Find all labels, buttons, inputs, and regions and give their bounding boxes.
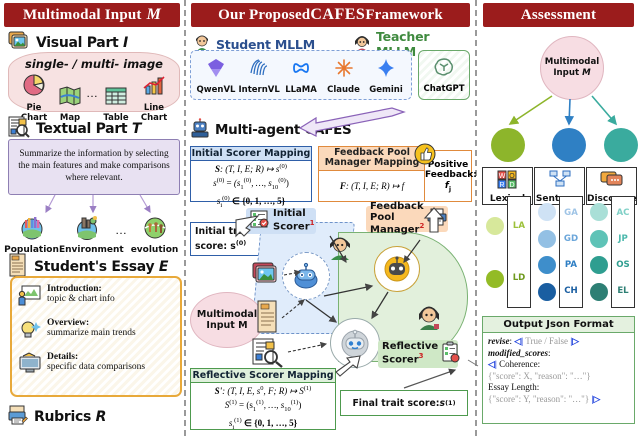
student-avatar-region-icon <box>326 232 354 264</box>
agent-tag-initial-scorer: Initial Scorer1 <box>246 208 316 234</box>
agent-name: Reflective Scorer <box>382 341 438 365</box>
prompt-text: Summarize the information by selecting t… <box>9 149 179 185</box>
textual-part-title: Textual Part T <box>36 121 141 137</box>
monitor-icon <box>17 352 43 380</box>
trait-labels-sentence: GA GD PA CH <box>559 196 583 308</box>
json-trait2-value: {"score": Y, "reason": "…"} <box>488 394 589 404</box>
trait-code: JP <box>618 234 628 244</box>
checklist-icon <box>250 209 270 233</box>
model-llama[interactable]: LLaMA <box>281 57 321 95</box>
json-trait2: Essay Length: <box>488 382 539 392</box>
formula-sup: (0) <box>279 163 287 170</box>
sentence-graph-icon <box>547 169 573 193</box>
lightbulb-icon <box>17 318 43 346</box>
fpm-mapping-header: Feedback Pool Manager Mapping <box>319 147 425 171</box>
initial-scorer-bot-icon <box>282 252 330 300</box>
trait-dot <box>538 256 556 274</box>
trait-column-discourse: AC JP OS EL <box>586 196 637 308</box>
formula-body: : (T, I, E; R) ↦ s <box>220 164 279 174</box>
presentation-icon <box>17 284 43 312</box>
amm-line1: Multimodal <box>545 57 599 68</box>
essay-item-introduction: Introduction: topic & chart info <box>17 284 175 312</box>
essay-item-text: Overview: summarize main trends <box>47 318 136 338</box>
final-trait-pre: Final trait score: <box>352 398 439 409</box>
r1m: , F; R) ↦ S <box>263 386 303 396</box>
trait-code: LD <box>513 273 526 283</box>
essay-item-detail: specific data comparisons <box>47 362 145 372</box>
reflective-scorer-mapping-box: Reflective Scorer Mapping S': (T, I, E, … <box>190 368 336 430</box>
trait-dot <box>590 283 608 301</box>
trait-column-sentence: GA GD PA CH <box>534 196 585 308</box>
trait-dot <box>538 283 556 301</box>
essay-structure-box: Introduction: topic & chart info Overvie… <box>10 276 182 397</box>
essay-item-text: Details: specific data comparisons <box>47 352 145 372</box>
fpm-formula: F: (T, I, E; R) ↦ f <box>319 180 425 192</box>
trait-dot <box>538 203 556 221</box>
r3rest: ∈ {0, 1, …, 5} <box>242 418 297 428</box>
amm-line2: Input <box>553 68 579 78</box>
claude-logo-icon <box>332 57 356 83</box>
trait-labels-lexical: LA LD <box>507 196 531 308</box>
banner-mid-post: Framework <box>365 7 443 24</box>
rubrics-title: Rubrics R <box>34 409 106 425</box>
agent-sup: 1 <box>310 219 315 227</box>
model-claude[interactable]: Claude <box>324 57 364 95</box>
trait-code: PA <box>565 260 577 270</box>
teacher-model-label: ChatGPT <box>419 84 469 94</box>
r2eq: = (s <box>237 400 253 410</box>
images-stack-icon <box>8 31 30 55</box>
json-trait1-value: {"score": X, "reason": "…"} <box>488 371 629 383</box>
banner-left-text: Multimodal Input <box>23 7 142 24</box>
open-angle: ◁| <box>514 336 523 346</box>
final-trait-score-box: Final trait score: s(1) <box>340 390 468 416</box>
gemini-logo-icon <box>374 57 398 83</box>
pf-line2: Feedback: <box>425 170 471 180</box>
trait-code: GD <box>564 234 578 244</box>
visual-subtitle: single- / multi- image <box>9 57 179 71</box>
fpm-body: : (T, I, E; R) ↦ f <box>346 181 404 191</box>
table-icon <box>104 85 128 111</box>
close-angle-2: |▷ <box>591 394 600 404</box>
f2csub: 10 <box>272 184 279 191</box>
clipboard-icon <box>441 341 461 367</box>
trait-code: AC <box>617 208 630 218</box>
r1: : (T, I, E, s <box>222 386 260 396</box>
trait-code: GA <box>564 208 578 218</box>
prompt-scroll-box: Summarize the information by selecting t… <box>8 139 180 195</box>
banner-mid-acronym: CAFES <box>310 6 365 24</box>
trait-dot <box>486 270 504 288</box>
textual-part-label: Textual Part <box>36 121 127 137</box>
evolution-icon <box>140 214 170 244</box>
f2csup: (0) <box>278 177 286 184</box>
svg-text:D: D <box>509 182 514 189</box>
internvl-logo-icon <box>247 57 271 83</box>
topics-ellipsis: … <box>115 223 127 247</box>
pie-chart-icon <box>21 73 47 101</box>
student-essay-symbol: E <box>159 259 168 275</box>
trait-code: CH <box>564 286 578 296</box>
panel-title-assessment: Assessment <box>483 3 634 27</box>
r2bsup: (1) <box>256 399 264 406</box>
multimodal-input-node-text: Multimodal Input M <box>197 309 257 332</box>
banner-mid-pre: Our Proposed <box>218 7 310 24</box>
pf-sub: j <box>449 184 451 192</box>
teacher-avatar-region-icon <box>414 300 444 334</box>
multiagent-heading: Multi-agent CAFES <box>190 118 351 142</box>
rubrics-icon <box>8 404 28 430</box>
f2close: ) <box>286 178 289 188</box>
textual-part-symbol: T <box>132 121 141 137</box>
feedback-pool-manager-bot-icon <box>374 246 420 292</box>
visual-part-box: single- / multi- image Pie Chart <box>8 52 180 112</box>
visual-part-symbol: I <box>123 35 128 51</box>
trait-grid: LA LD GA GD PA CH AC JP OS EL <box>482 196 637 308</box>
reflective-mapping-header: Reflective Scorer Mapping <box>191 369 335 383</box>
initial-trait-pre: score: s <box>195 241 236 252</box>
model-gemini[interactable]: Gemini <box>366 57 406 95</box>
model-label: LLaMA <box>281 85 321 95</box>
mm-node-line1: Multimodal <box>197 309 257 320</box>
r-lhs: S' <box>215 386 223 396</box>
initial-scorer-mapping-box: Initial Scorer Mapping S: (T, I, E; R) ↦… <box>190 146 312 202</box>
r1s1: (1) <box>304 385 312 392</box>
essay-item-detail: topic & chart info <box>47 294 115 304</box>
robot-icon <box>190 118 210 142</box>
json-trait1: Coherence: <box>499 359 540 369</box>
topic-population: Population <box>4 214 59 255</box>
reflective-formula-2: S(1) = (s1(1), …, s10(1)) <box>191 399 335 415</box>
banner-left-symbol: M <box>147 6 161 24</box>
json-line-trait2: Essay Length: <box>488 382 629 394</box>
model-label: Gemini <box>366 85 406 95</box>
json-box-body: revise: ◁| True / False |▷ modified_scor… <box>483 333 634 408</box>
essay-document-icon <box>256 300 280 338</box>
trait-dots-discourse <box>586 196 611 308</box>
r3sup: (1) <box>234 417 242 424</box>
model-label: Claude <box>324 85 364 95</box>
r2as: (1) <box>229 399 237 406</box>
json-key-modified: modified_scores <box>488 348 548 358</box>
f2bsub: 1 <box>240 184 243 191</box>
r2csub: 10 <box>284 406 291 413</box>
r2c: ) <box>298 400 301 410</box>
essay-item-overview: Overview: summarize main trends <box>17 318 175 346</box>
rubrics-doc-icon <box>252 338 284 372</box>
close-angle: |▷ <box>570 336 579 346</box>
final-trait-sup: (1) <box>445 399 455 407</box>
initial-scorer-formula-1: S: (T, I, E; R) ↦ s(0) <box>191 163 311 175</box>
fpm-header-line2: Manager Mapping <box>319 158 425 168</box>
reflective-formula-1: S': (T, I, E, s0, F; R) ↦ S(1) <box>191 385 335 397</box>
agent-tag-feedback-pool-manager: Feedback Pool Manager2 <box>366 206 448 232</box>
reflective-scorer-bot-icon <box>330 318 380 368</box>
model-qwenvl[interactable]: QwenVL <box>196 57 236 95</box>
discourse-chat-icon <box>599 169 625 193</box>
essay-item-text: Introduction: topic & chart info <box>47 284 115 304</box>
trait-dot <box>590 256 608 274</box>
visual-items-ellipsis: … <box>86 86 98 110</box>
environment-icon <box>72 214 102 244</box>
essay-item-heading: Details: <box>47 352 145 362</box>
initial-trait-sup: (0) <box>236 239 246 247</box>
banner-right-text: Assessment <box>521 7 596 24</box>
model-label: QwenVL <box>196 85 236 95</box>
f2eq: = <box>224 178 234 188</box>
agent-name: Initial Scorer <box>273 208 310 232</box>
f3sub: i <box>220 202 222 209</box>
topic-evolution: evolution <box>127 214 182 255</box>
mm-node-line2: Input M <box>197 320 257 331</box>
assessment-mm-text: Multimodal Input M <box>545 57 599 78</box>
essay-item-details: Details: specific data comparisons <box>17 352 175 380</box>
reflective-formula-3: si(1) ∈ {0, 1, …, 5} <box>191 417 335 433</box>
trait-code: EL <box>617 286 628 296</box>
json-key-revise: revise <box>488 336 510 346</box>
teacher-model-box[interactable]: ChatGPT <box>418 50 470 100</box>
population-icon <box>17 214 47 244</box>
json-box-header: Output Json Format <box>483 317 634 333</box>
student-models-box: QwenVL InternVL LLaMA <box>190 50 412 100</box>
visual-part-title: Visual Part I <box>36 35 128 51</box>
printer-icon <box>427 207 447 231</box>
map-icon <box>58 85 82 111</box>
model-label: InternVL <box>239 85 279 95</box>
initial-scorer-mapping-header: Initial Scorer Mapping <box>191 147 311 161</box>
json-line-modified: modified_scores: <box>488 348 629 360</box>
trait-dots-lexical <box>482 196 507 308</box>
word-blocks-icon: W O R D <box>495 169 521 193</box>
images-stack-icon <box>252 262 282 292</box>
chatgpt-logo-icon <box>419 55 469 83</box>
topic-environment: Environment <box>59 214 115 255</box>
multiagent-title: Multi-agent CAFES <box>215 122 351 138</box>
trait-column-lexical: LA LD <box>482 196 533 308</box>
level-circle-sentence <box>552 128 586 162</box>
multimodal-input-panel: Multimodal Input M Visual Part I single-… <box>0 0 186 436</box>
f2mid: , …, s <box>251 178 272 188</box>
qwenvl-logo-icon <box>204 57 228 83</box>
llama-logo-icon <box>289 57 313 83</box>
svg-text:R: R <box>499 182 504 189</box>
line-chart-icon <box>141 75 167 101</box>
svg-text:W: W <box>498 173 505 180</box>
svg-text:O: O <box>509 173 515 180</box>
topics-row: Population Environment … <box>4 214 182 255</box>
assessment-multimodal-node: Multimodal Input M <box>540 36 604 100</box>
trait-dots-sentence <box>534 196 559 308</box>
json-trait2-row: {"score": Y, "reason": "…"} |▷ <box>488 394 629 406</box>
agent-tag-label: Feedback Pool Manager2 <box>370 202 424 236</box>
trait-dot <box>538 230 556 248</box>
trait-dot <box>590 230 608 248</box>
rubrics-label: Rubrics <box>34 409 91 425</box>
visual-part-label: Visual Part <box>36 35 118 51</box>
initial-scorer-formula-2: s(0) = (s1(0), …, s10(0)) <box>191 177 311 193</box>
f3sup: (0) <box>222 195 230 202</box>
student-essay-title: Student's Essay E <box>34 259 168 275</box>
amm-sym: M <box>582 68 591 78</box>
trait-code: LA <box>513 221 525 231</box>
trait-labels-discourse: AC JP OS EL <box>611 196 635 308</box>
trait-dot <box>590 203 608 221</box>
agent-tag-reflective-scorer: Reflective Scorer3 <box>378 340 458 368</box>
level-circle-discourse <box>604 128 638 162</box>
r2m: , …, s <box>264 400 285 410</box>
panel-title-framework: Our Proposed CAFES Framework <box>191 3 470 27</box>
essay-item-detail: summarize main trends <box>47 328 136 338</box>
thumbs-up-icon <box>414 143 436 169</box>
json-revise-value: True / False <box>525 336 568 346</box>
feedback-pool-manager-mapping-box: Feedback Pool Manager Mapping F: (T, I, … <box>318 146 426 202</box>
agent-sup: 3 <box>419 352 424 360</box>
trait-dot <box>486 217 504 235</box>
r3sub: i <box>232 424 234 431</box>
model-internvl[interactable]: InternVL <box>239 57 279 95</box>
essay-item-heading: Introduction: <box>47 284 115 294</box>
rubrics-symbol: R <box>96 409 106 425</box>
student-models-row: QwenVL InternVL LLaMA <box>191 53 411 95</box>
agent-name: Feedback Pool Manager <box>370 201 424 235</box>
panel-title-multimodal-input: Multimodal Input M <box>4 3 180 27</box>
student-essay-label: Student's Essay <box>34 259 154 275</box>
agent-sup: 2 <box>419 222 424 230</box>
agent-tag-label: Initial Scorer1 <box>273 209 315 232</box>
essay-item-heading: Overview: <box>47 318 136 328</box>
json-line-trait1: ◁| Coherence: <box>488 359 629 371</box>
f3rest: ∈ {0, 1, …, 5} <box>230 196 285 206</box>
json-line-revise: revise: ◁| True / False |▷ <box>488 336 629 348</box>
open-angle-2: ◁| <box>488 359 497 369</box>
agent-tag-label: Reflective Scorer3 <box>382 342 438 365</box>
level-circle-lexical <box>491 128 525 162</box>
r2bsub: 1 <box>253 406 256 413</box>
rubrics-heading: Rubrics R <box>8 404 106 430</box>
output-json-format-box: Output Json Format revise: ◁| True / Fal… <box>482 316 635 424</box>
trait-code: OS <box>616 260 630 270</box>
